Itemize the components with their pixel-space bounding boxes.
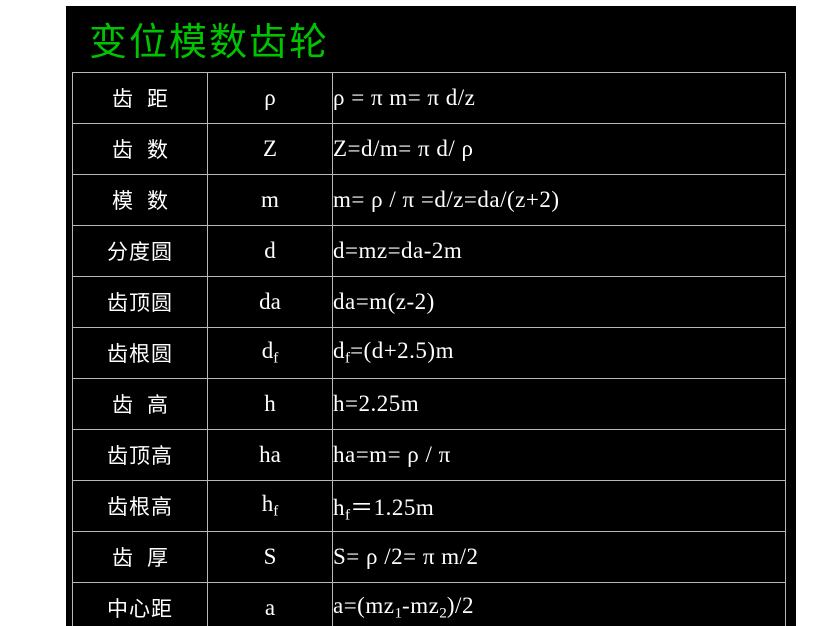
formula-middle: -mz <box>402 593 439 618</box>
formula-subscript: 1 <box>394 605 402 622</box>
parameter-formula-cell: ρ = π m= π d/z <box>333 73 786 124</box>
parameter-name-label: 齿数 <box>98 138 182 162</box>
formula-text: h=2.25m <box>333 391 419 416</box>
gear-parameters-table: 齿距ρρ = π m= π d/z齿数ZZ=d/m= π d/ ρ模数mm= ρ… <box>72 72 786 626</box>
parameter-symbol: a <box>265 595 275 620</box>
parameter-name-label: 齿距 <box>98 87 182 111</box>
parameter-name-cell: 齿顶高 <box>73 430 208 481</box>
parameter-name-label: 模数 <box>98 189 182 213</box>
parameter-symbol-cell: m <box>208 175 333 226</box>
parameter-symbol: ha <box>259 442 281 467</box>
formula-text: Z=d/m= π d/ ρ <box>333 136 474 161</box>
formula-suffix: ＝1.25m <box>350 495 434 520</box>
parameter-name-label: 齿根圆 <box>107 342 173 366</box>
parameter-symbol: ρ <box>264 85 275 110</box>
parameter-symbol-cell: d <box>208 226 333 277</box>
parameter-symbol-cell: ρ <box>208 73 333 124</box>
parameter-formula-cell: S= ρ /2= π m/2 <box>333 532 786 583</box>
table-body: 齿距ρρ = π m= π d/z齿数ZZ=d/m= π d/ ρ模数mm= ρ… <box>73 73 786 626</box>
formula-text: ρ = π m= π d/z <box>333 85 475 110</box>
formula-text: da=m(z-2) <box>333 289 435 314</box>
parameter-name-label: 中心距 <box>107 597 173 621</box>
formula-text: m= ρ / π =d/z=da/(z+2) <box>333 187 559 212</box>
formula-suffix: =(d+2.5)m <box>350 338 454 363</box>
parameter-symbol-cell: a <box>208 583 333 626</box>
table-row: 分度圆dd=mz=da-2m <box>73 226 786 277</box>
formula-prefix: h <box>333 495 345 520</box>
parameter-name-label: 齿根高 <box>107 495 173 519</box>
parameter-formula-cell: df=(d+2.5)m <box>333 328 786 379</box>
parameter-symbol: Z <box>263 136 277 161</box>
table-row: 模数mm= ρ / π =d/z=da/(z+2) <box>73 175 786 226</box>
table-row: 齿根高hfhf＝1.25m <box>73 481 786 532</box>
parameter-formula-cell: a=(mz1-mz2)/2 <box>333 583 786 626</box>
parameter-name-label: 齿高 <box>98 393 182 417</box>
parameter-symbol: d <box>262 338 274 363</box>
parameter-name-cell: 齿距 <box>73 73 208 124</box>
parameter-name-cell: 齿根圆 <box>73 328 208 379</box>
parameter-name-cell: 齿数 <box>73 124 208 175</box>
parameter-symbol-cell: da <box>208 277 333 328</box>
parameter-formula-cell: hf＝1.25m <box>333 481 786 532</box>
formula-text: d=mz=da-2m <box>333 238 462 263</box>
parameter-formula-cell: h=2.25m <box>333 379 786 430</box>
slide-canvas: 变位模数齿轮 齿距ρρ = π m= π d/z齿数ZZ=d/m= π d/ ρ… <box>66 6 796 626</box>
parameter-symbol-cell: df <box>208 328 333 379</box>
page-title: 变位模数齿轮 <box>89 20 329 64</box>
parameter-symbol: S <box>264 544 277 569</box>
formula-prefix: a=(mz <box>333 593 394 618</box>
parameter-symbol-cell: h <box>208 379 333 430</box>
parameter-symbol-subscript: f <box>273 503 278 520</box>
parameter-formula-cell: d=mz=da-2m <box>333 226 786 277</box>
parameter-name-cell: 齿高 <box>73 379 208 430</box>
parameter-formula-cell: m= ρ / π =d/z=da/(z+2) <box>333 175 786 226</box>
table-row: 齿顶高haha=m= ρ / π <box>73 430 786 481</box>
parameter-name-cell: 齿顶圆 <box>73 277 208 328</box>
parameter-symbol: h <box>264 391 276 416</box>
parameter-name-cell: 齿根高 <box>73 481 208 532</box>
parameter-formula-cell: Z=d/m= π d/ ρ <box>333 124 786 175</box>
table-row: 齿厚SS= ρ /2= π m/2 <box>73 532 786 583</box>
parameter-symbol: d <box>264 238 276 263</box>
formula-subscript-2: 2 <box>439 605 447 622</box>
parameter-name-cell: 中心距 <box>73 583 208 626</box>
parameter-symbol-subscript: f <box>273 350 278 367</box>
table-row: 齿数ZZ=d/m= π d/ ρ <box>73 124 786 175</box>
parameter-name-label: 齿顶圆 <box>107 291 173 315</box>
parameter-symbol: m <box>261 187 279 212</box>
parameter-name-label: 齿顶高 <box>107 444 173 468</box>
parameter-symbol-cell: Z <box>208 124 333 175</box>
parameter-symbol-cell: ha <box>208 430 333 481</box>
formula-prefix: d <box>333 338 345 363</box>
table-row: 齿距ρρ = π m= π d/z <box>73 73 786 124</box>
parameter-symbol-cell: hf <box>208 481 333 532</box>
parameter-formula-cell: da=m(z-2) <box>333 277 786 328</box>
parameter-symbol: da <box>259 289 281 314</box>
formula-text: S= ρ /2= π m/2 <box>333 544 479 569</box>
table-row: 齿根圆dfdf=(d+2.5)m <box>73 328 786 379</box>
formula-suffix: )/2 <box>447 593 474 618</box>
parameter-name-cell: 分度圆 <box>73 226 208 277</box>
parameter-name-label: 齿厚 <box>98 546 182 570</box>
formula-text: ha=m= ρ / π <box>333 442 451 467</box>
parameter-name-cell: 模数 <box>73 175 208 226</box>
table-row: 齿高hh=2.25m <box>73 379 786 430</box>
parameter-symbol-cell: S <box>208 532 333 583</box>
parameter-formula-cell: ha=m= ρ / π <box>333 430 786 481</box>
parameter-name-cell: 齿厚 <box>73 532 208 583</box>
table-row: 中心距aa=(mz1-mz2)/2 <box>73 583 786 626</box>
parameter-symbol: h <box>262 491 274 516</box>
parameter-name-label: 分度圆 <box>107 240 173 264</box>
table-row: 齿顶圆dada=m(z-2) <box>73 277 786 328</box>
